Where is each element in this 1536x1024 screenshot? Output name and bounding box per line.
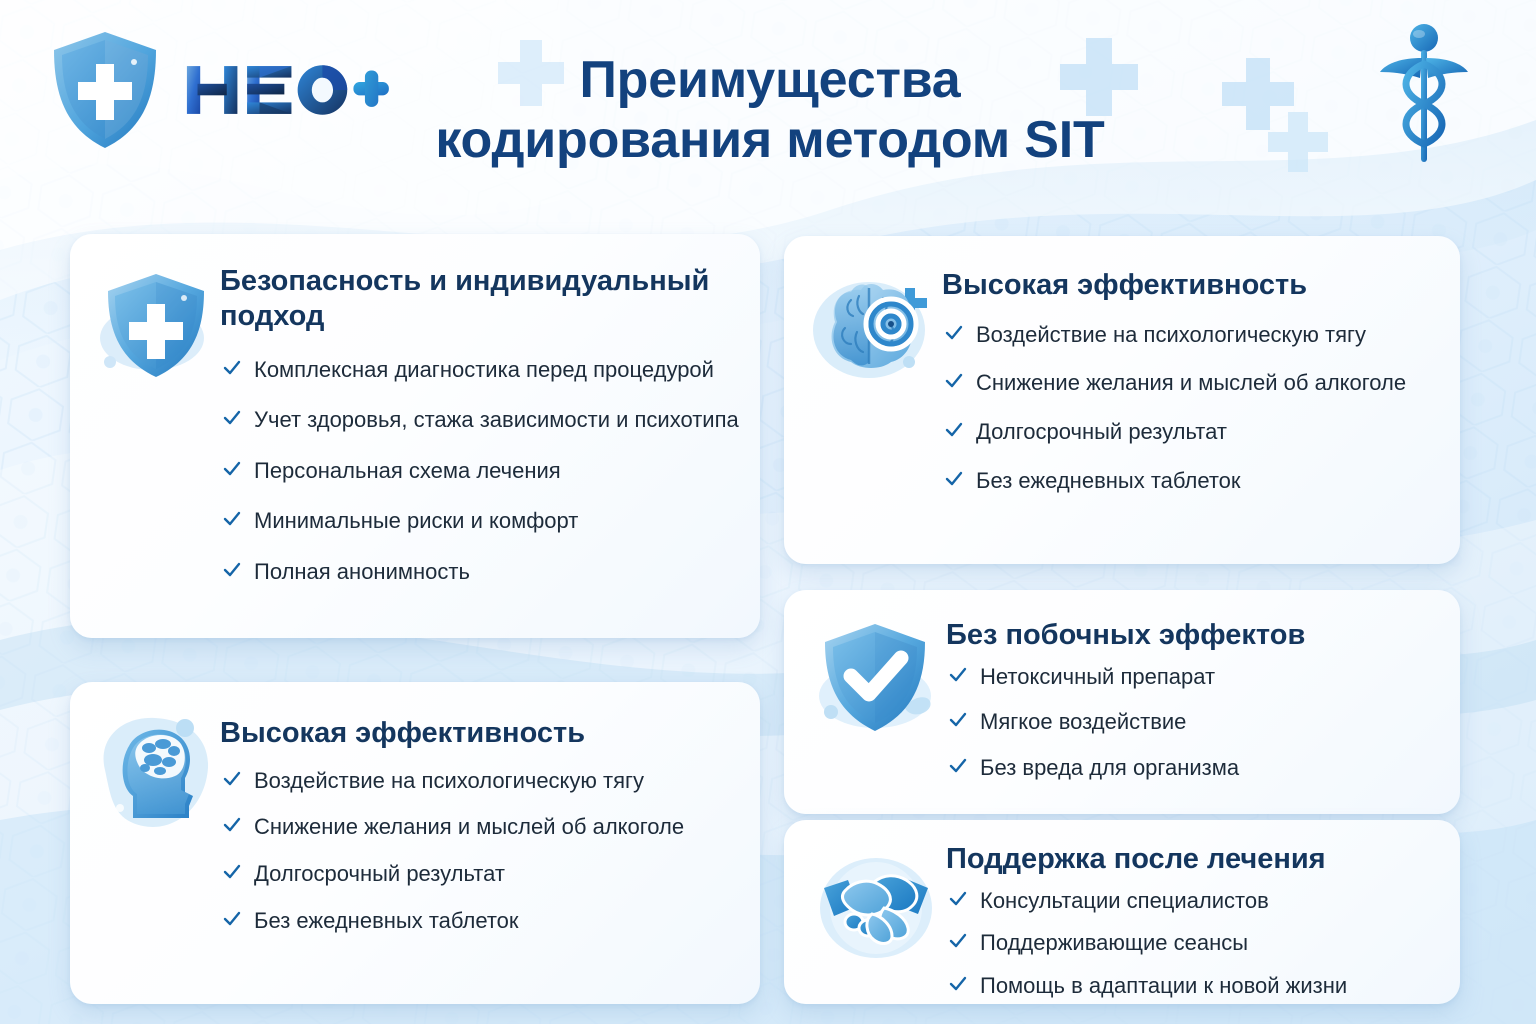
list-item-text: Полная анонимность xyxy=(254,559,470,584)
list-item: Долгосрочный результат xyxy=(942,418,1460,447)
check-icon xyxy=(222,560,242,580)
check-icon xyxy=(944,469,964,489)
card-no-side-effects-title: Без побочных эффектов xyxy=(946,618,1460,653)
list-item-text: Поддерживающие сеансы xyxy=(980,930,1248,955)
check-icon xyxy=(222,815,242,835)
page-title: Преимущества кодирования методом SIT xyxy=(300,50,1240,171)
check-icon xyxy=(222,358,242,378)
caduceus-icon xyxy=(1378,22,1470,172)
list-item: Долгосрочный результат xyxy=(220,860,760,889)
list-item: Воздействие на психологическую тягу xyxy=(220,767,760,796)
check-icon xyxy=(948,710,968,730)
card-safety: Безопасность и индивидуальный подход Ком… xyxy=(70,234,760,638)
card-efficiency-right: Высокая эффективность Воздействие на пси… xyxy=(784,236,1460,564)
list-item: Персональная схема лечения xyxy=(220,457,760,486)
check-icon xyxy=(222,408,242,428)
list-item-text: Воздействие на психологическую тягу xyxy=(976,322,1366,347)
list-item-text: Консультации специалистов xyxy=(980,888,1269,913)
list-item-text: Долгосрочный результат xyxy=(254,861,505,886)
card-safety-body: Безопасность и индивидуальный подход Ком… xyxy=(220,258,760,638)
list-item-text: Мягкое воздействие xyxy=(980,709,1186,734)
list-item-text: Без вреда для организма xyxy=(980,755,1239,780)
check-icon xyxy=(948,889,968,909)
list-item-text: Минимальные риски и комфорт xyxy=(254,508,578,533)
check-icon xyxy=(944,323,964,343)
list-item-text: Без ежедневных таблеток xyxy=(254,908,519,933)
list-item: Без вреда для организма xyxy=(946,754,1460,783)
check-icon xyxy=(948,756,968,776)
list-item-text: Персональная схема лечения xyxy=(254,458,561,483)
page-title-line2: кодирования методом SIT xyxy=(300,110,1240,170)
check-icon xyxy=(948,974,968,994)
list-item: Снижение желания и мыслей об алкоголе xyxy=(220,813,760,842)
list-item: Помощь в адаптации к новой жизни xyxy=(946,972,1460,1001)
list-item-text: Воздействие на психологическую тягу xyxy=(254,768,644,793)
card-no-side-effects-icon-wrap xyxy=(804,610,946,814)
list-item-text: Снижение желания и мыслей об алкоголе xyxy=(976,370,1406,395)
list-item-text: Учет здоровья, стажа зависимости и психо… xyxy=(254,407,739,432)
list-item-text: Помощь в адаптации к новой жизни xyxy=(980,973,1347,998)
list-item: Воздействие на психологическую тягу xyxy=(942,321,1460,350)
list-item: Нетоксичный препарат xyxy=(946,663,1460,692)
list-item-text: Без ежедневных таблеток xyxy=(976,468,1241,493)
card-efficiency-left-icon-wrap xyxy=(88,704,220,1004)
shield-cross-icon xyxy=(94,264,218,384)
list-item: Без ежедневных таблеток xyxy=(942,467,1460,496)
list-item: Поддерживающие сеансы xyxy=(946,929,1460,958)
list-item: Снижение желания и мыслей об алкоголе xyxy=(942,369,1460,398)
card-support-icon-wrap xyxy=(806,838,946,1004)
card-efficiency-left: Высокая эффективность Воздействие на пси… xyxy=(70,682,760,1004)
list-item: Мягкое воздействие xyxy=(946,708,1460,737)
card-efficiency-right-title: Высокая эффективность xyxy=(942,268,1460,303)
card-support-body: Поддержка после лечения Консультации спе… xyxy=(946,838,1460,1004)
card-safety-bullets: Комплексная диагностика перед процедурой… xyxy=(220,356,760,587)
check-icon xyxy=(948,931,968,951)
list-item: Полная анонимность xyxy=(220,558,760,587)
card-no-side-effects-bullets: Нетоксичный препарат Мягкое воздействие … xyxy=(946,663,1460,783)
card-efficiency-right-icon-wrap xyxy=(802,258,942,564)
list-item-text: Долгосрочный результат xyxy=(976,419,1227,444)
card-efficiency-left-bullets: Воздействие на психологическую тягу Сниж… xyxy=(220,767,760,935)
brain-target-icon xyxy=(805,266,939,392)
list-item-text: Комплексная диагностика перед процедурой xyxy=(254,357,714,382)
page-title-line1: Преимущества xyxy=(300,50,1240,110)
check-icon xyxy=(944,420,964,440)
check-icon xyxy=(222,909,242,929)
card-no-side-effects-body: Без побочных эффектов Нетоксичный препар… xyxy=(946,610,1460,814)
card-efficiency-left-body: Высокая эффективность Воздействие на пси… xyxy=(220,704,760,1004)
handshake-icon xyxy=(810,844,942,970)
poster-header: НЕО+ Преимущества кодирования методом SI… xyxy=(0,0,1536,210)
card-support-title: Поддержка после лечения xyxy=(946,842,1460,877)
card-no-side-effects: Без побочных эффектов Нетоксичный препар… xyxy=(784,590,1460,814)
list-item: Без ежедневных таблеток xyxy=(220,907,760,936)
check-icon xyxy=(222,862,242,882)
list-item-text: Снижение желания и мыслей об алкоголе xyxy=(254,814,684,839)
card-support: Поддержка после лечения Консультации спе… xyxy=(784,820,1460,1004)
list-item: Консультации специалистов xyxy=(946,887,1460,916)
check-icon xyxy=(944,371,964,391)
shield-cross-icon xyxy=(46,28,164,152)
head-brain-icon xyxy=(89,710,219,836)
shield-check-icon xyxy=(809,614,941,744)
check-icon xyxy=(222,769,242,789)
infographic-poster: НЕО+ Преимущества кодирования методом SI… xyxy=(0,0,1536,1024)
card-efficiency-right-bullets: Воздействие на психологическую тягу Сниж… xyxy=(942,321,1460,495)
list-item-text: Нетоксичный препарат xyxy=(980,664,1215,689)
card-efficiency-right-body: Высокая эффективность Воздействие на пси… xyxy=(942,258,1460,564)
check-icon xyxy=(948,665,968,685)
list-item: Минимальные риски и комфорт xyxy=(220,507,760,536)
check-icon xyxy=(222,509,242,529)
list-item: Комплексная диагностика перед процедурой xyxy=(220,356,760,385)
card-safety-title: Безопасность и индивидуальный подход xyxy=(220,264,760,334)
check-icon xyxy=(222,459,242,479)
card-support-bullets: Консультации специалистов Поддерживающие… xyxy=(946,887,1460,1001)
card-safety-icon-wrap xyxy=(92,258,220,638)
card-efficiency-left-title: Высокая эффективность xyxy=(220,716,760,751)
list-item: Учет здоровья, стажа зависимости и психо… xyxy=(220,406,760,435)
